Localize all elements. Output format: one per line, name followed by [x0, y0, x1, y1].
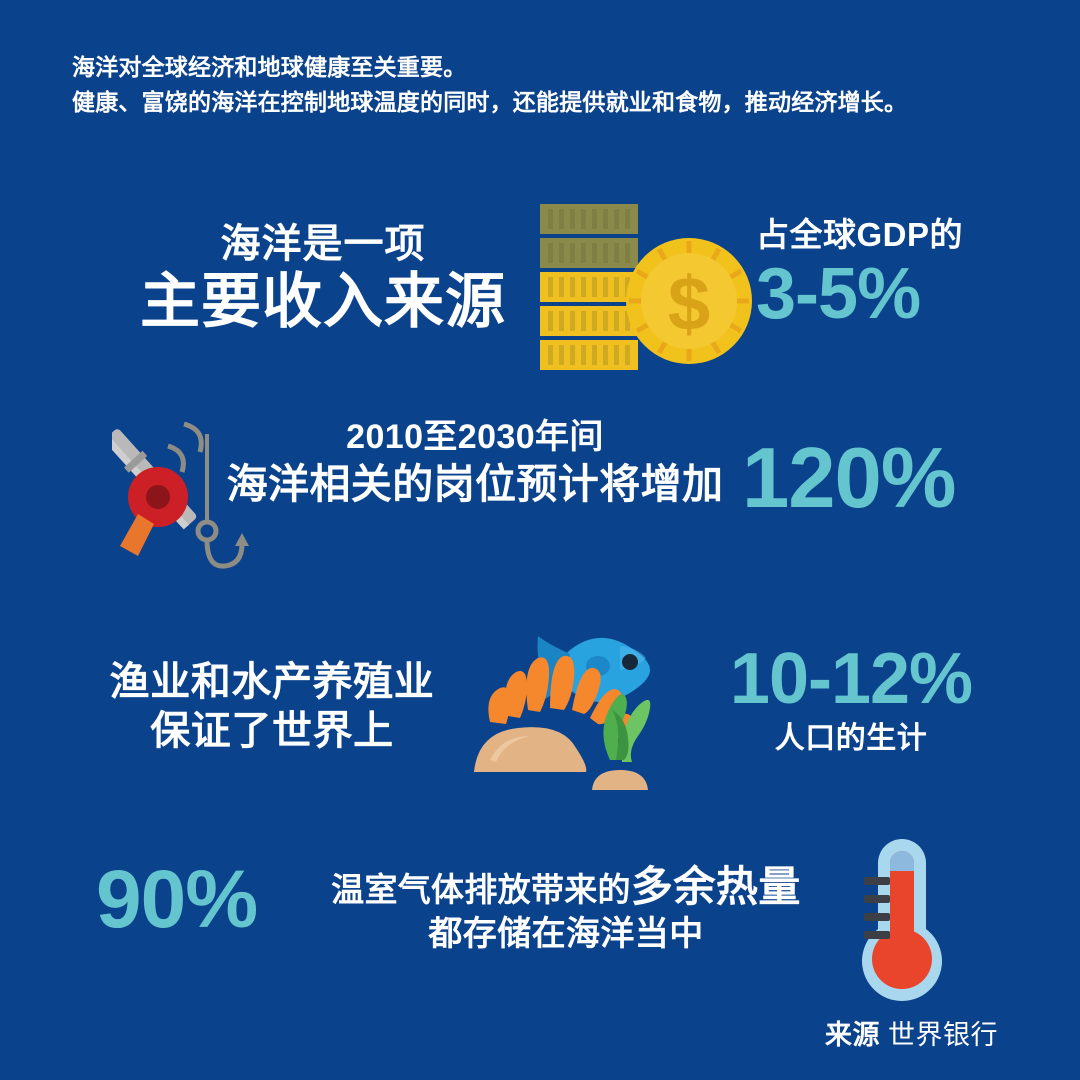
heat-text-emphasis: 多余热量: [631, 863, 801, 910]
svg-text:$: $: [668, 262, 710, 347]
stat-block-gdp: 海洋是一项 主要收入来源: [0, 196, 1080, 391]
jobs-text: 2010至2030年间 海洋相关的岗位预计将增加: [205, 418, 745, 508]
gdp-right-label: 占全球GDP的: [756, 216, 1036, 254]
gdp-left-small: 海洋是一项: [118, 222, 528, 266]
fisheries-left-text: 渔业和水产养殖业 保证了世界上: [62, 658, 482, 756]
source-label: 来源: [825, 1020, 880, 1050]
stat-block-fisheries: 渔业和水产养殖业 保证了世界上: [0, 630, 1080, 820]
gdp-right-text: 占全球GDP的 3-5%: [756, 216, 1036, 331]
jobs-text-big: 海洋相关的岗位预计将增加: [205, 460, 745, 508]
heat-text-line-2: 都存储在海洋当中: [306, 914, 826, 954]
heat-text-line-1: 温室气体排放带来的多余热量: [306, 863, 826, 910]
fisheries-line-2: 保证了世界上: [62, 707, 482, 756]
fisheries-value: 10-12%: [686, 642, 1016, 718]
jobs-text-small: 2010至2030年间: [205, 418, 745, 457]
thermometer-icon: [842, 833, 962, 1013]
stat-block-jobs: 2010至2030年间 海洋相关的岗位预计将增加 120%: [0, 404, 1080, 604]
stat-block-heat: 90% 温室气体排放带来的多余热量 都存储在海洋当中: [0, 845, 1080, 1010]
fisheries-line-1: 渔业和水产养殖业: [62, 658, 482, 707]
source-name: 世界银行: [888, 1020, 998, 1050]
source-footer: 来源世界银行: [825, 1013, 998, 1052]
heat-value: 90%: [96, 859, 257, 941]
jobs-value: 120%: [742, 436, 955, 521]
gdp-left-text: 海洋是一项 主要收入来源: [118, 222, 528, 335]
coral-reef-icon: [470, 610, 685, 800]
header-line-2: 健康、富饶的海洋在控制地球温度的同时，还能提供就业和食物，推动经济增长。: [72, 85, 1032, 120]
heat-text: 温室气体排放带来的多余热量 都存储在海洋当中: [306, 863, 826, 954]
gdp-left-big: 主要收入来源: [118, 268, 528, 335]
heat-text-regular: 温室气体排放带来的: [331, 871, 631, 908]
infographic-page: 海洋对全球经济和地球健康至关重要。 健康、富饶的海洋在控制地球温度的同时，还能提…: [0, 0, 1080, 1080]
fisheries-value-sub: 人口的生计: [686, 722, 1016, 755]
header-line-1: 海洋对全球经济和地球健康至关重要。: [72, 50, 1032, 85]
gdp-right-value: 3-5%: [756, 258, 1036, 331]
fisheries-right-text: 10-12% 人口的生计: [686, 642, 1016, 755]
header-text: 海洋对全球经济和地球健康至关重要。 健康、富饶的海洋在控制地球温度的同时，还能提…: [72, 50, 1032, 120]
coin-stack-icon: $: [528, 196, 778, 401]
